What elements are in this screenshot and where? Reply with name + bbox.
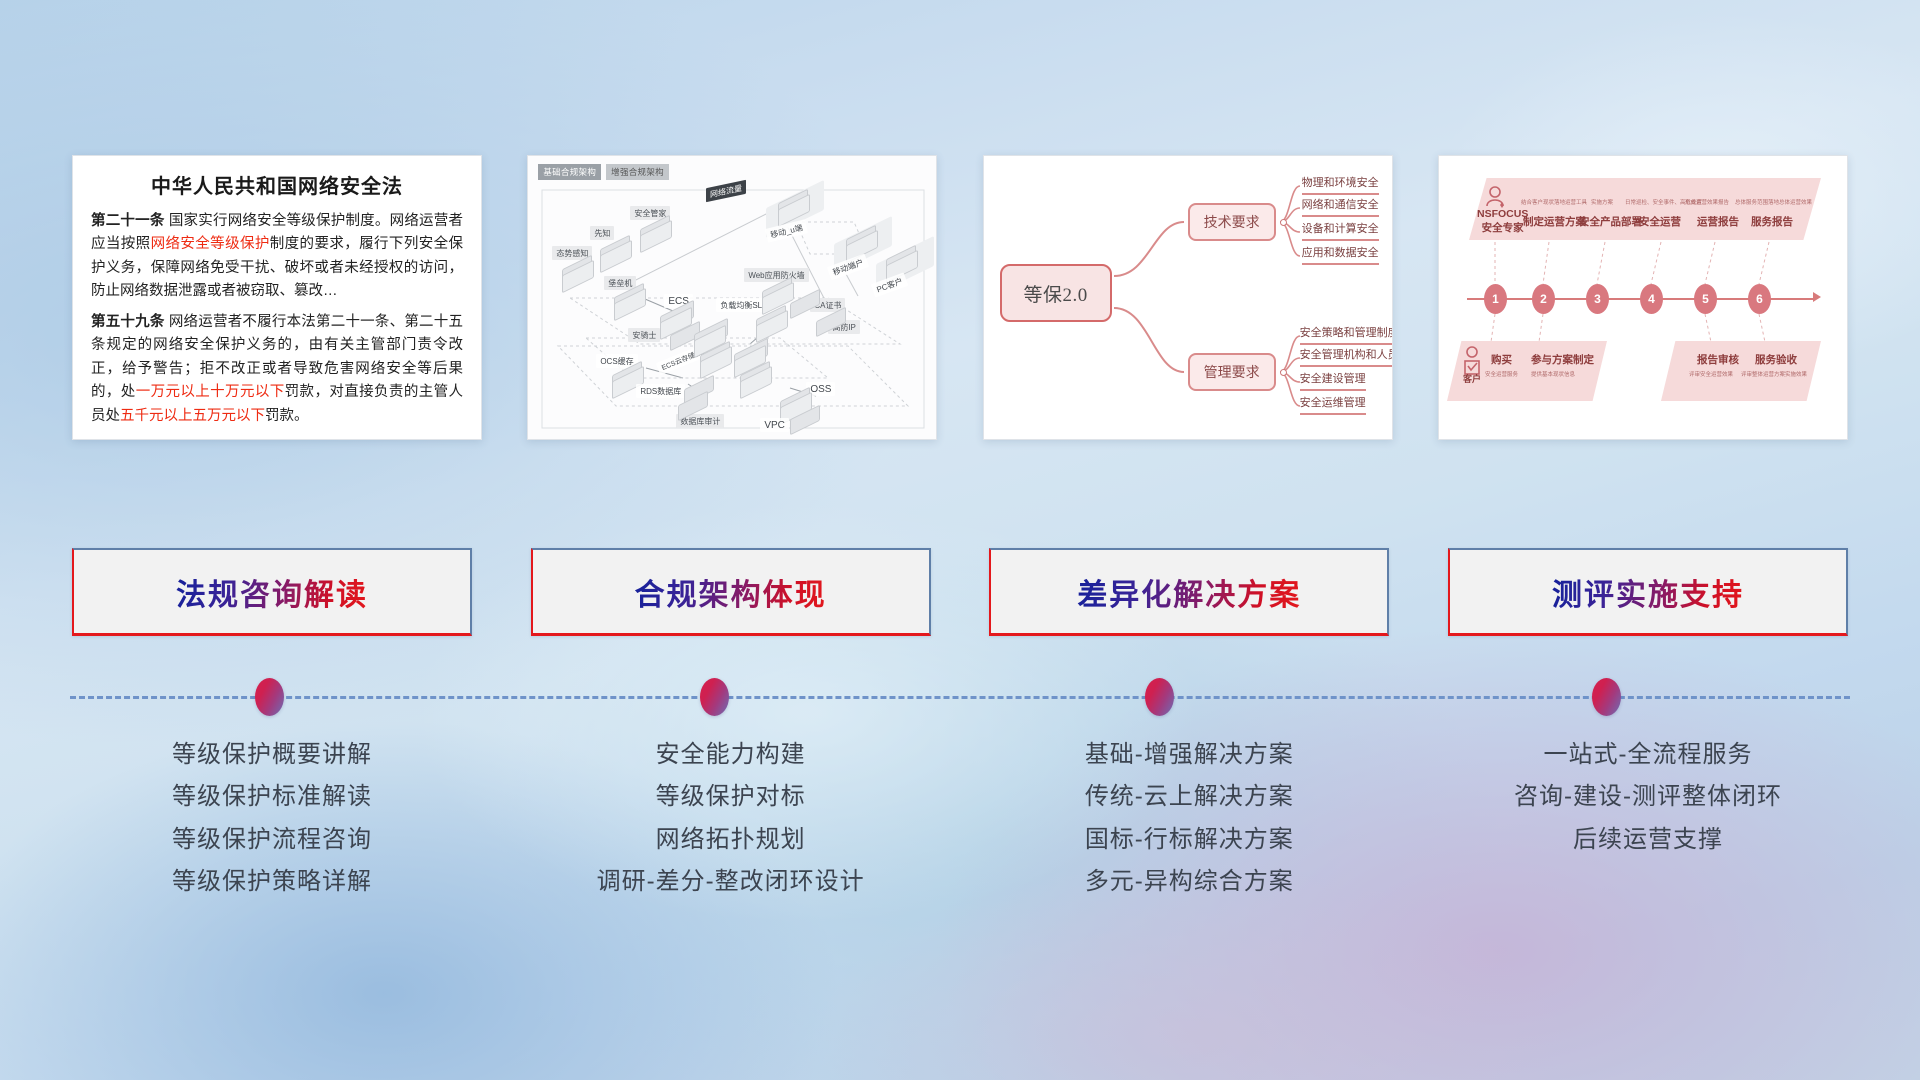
slide-stage: 中华人民共和国网络安全法 第二十一条 国家实行网络安全等级保护制度。网络运营者应… (0, 0, 1920, 1080)
roadmap-step4-title: 安全运营 (1639, 214, 1681, 229)
mindmap-leaf-network-comm: 网络和通信安全 (1302, 196, 1379, 217)
list-item: 多元-异构综合方案 (1085, 869, 1294, 895)
timeline-dot-4[interactable] (1592, 678, 1621, 716)
mindmap-leaf-policy-system: 安全策略和管理制度 (1300, 324, 1393, 345)
roadmap-node-1[interactable]: 1 (1484, 284, 1507, 314)
roadmap-customer-step3-sub: 评审安全运营效果 (1689, 370, 1733, 378)
law-card-title: 中华人民共和国网络安全法 (91, 170, 463, 199)
list-item: 后续运营支撑 (1573, 827, 1723, 853)
roadmap-axis-arrow (1813, 292, 1821, 302)
mindmap-branch-technical: 技术要求 (1188, 203, 1276, 241)
section-title-label-2: 合规架构体现 (635, 570, 827, 614)
article-59-label: 第五十九条 (91, 314, 165, 330)
service-roadmap-card: 1 2 3 4 5 6 NSFOCUS 安全专家 制定运营方案 结合客户现状落地… (1438, 155, 1848, 440)
provider-person-icon (1487, 187, 1504, 208)
node-label-anqishi: 安骑士 (628, 328, 660, 342)
mindmap-card: 等保2.0 技术要求 物理和环境安全 网络和通信安全 设备和计算安全 应用和数据… (983, 155, 1393, 440)
section-titles-row: 法规咨询解读 合规架构体现 差异化解决方案 测评实施支持 (0, 548, 1920, 640)
mindmap-leaf-org-personnel: 安全管理机构和人员 (1300, 346, 1393, 367)
node-label-waf: Web应用防火墙 (744, 268, 808, 282)
mindmap-leaf-construction-mgmt: 安全建设管理 (1300, 370, 1366, 391)
roadmap-step5-sub: 形成运营效果报告 (1685, 198, 1729, 206)
roadmap-node-5[interactable]: 5 (1694, 284, 1717, 314)
timeline-dot-2[interactable] (700, 678, 729, 716)
law-excerpt-card: 中华人民共和国网络安全法 第二十一条 国家实行网络安全等级保护制度。网络运营者应… (72, 155, 482, 440)
list-item: 国标-行标解决方案 (1085, 827, 1294, 853)
roadmap-node-6[interactable]: 6 (1748, 284, 1771, 314)
article-59-text-c: 罚款。 (265, 408, 309, 424)
timeline-dot-1[interactable] (255, 678, 284, 716)
mindmap-leaf-app-data: 应用和数据安全 (1302, 244, 1379, 265)
list-item: 调研-差分-整改闭环设计 (597, 869, 865, 895)
roadmap-customer-step4-title: 服务验收 (1755, 352, 1797, 367)
architecture-diagram-card: 基础合规架构 增强合规架构 (527, 155, 937, 440)
roadmap-step2-title: 制定运营方案 (1523, 214, 1586, 229)
section-lists-row: 等级保护概要讲解 等级保护标准解读 等级保护流程咨询 等级保护策略详解 安全能力… (0, 742, 1920, 972)
list-item: 传统-云上解决方案 (1085, 784, 1294, 810)
roadmap-customer-role: 客户 (1463, 372, 1481, 385)
list-item: 等级保护概要讲解 (172, 742, 372, 768)
list-item: 基础-增强解决方案 (1085, 742, 1294, 768)
section-title-label-4: 测评实施支持 (1552, 570, 1744, 614)
article-21-label: 第二十一条 (91, 213, 165, 229)
visual-cards-row: 中华人民共和国网络安全法 第二十一条 国家实行网络安全等级保护制度。网络运营者应… (0, 155, 1920, 445)
roadmap-step6-title: 服务报告 (1751, 214, 1793, 229)
node-label-xianzhi: 先知 (590, 226, 614, 240)
section-title-label-1: 法规咨询解读 (176, 570, 368, 614)
section-list-1: 等级保护概要讲解 等级保护标准解读 等级保护流程咨询 等级保护策略详解 (72, 742, 472, 972)
timeline-dot-3[interactable] (1145, 678, 1174, 716)
mindmap-root: 等保2.0 (1000, 264, 1112, 322)
node-label-vpc: VPC (760, 418, 789, 432)
roadmap-customer-step4-sub: 评审整体运营方案实施效果 (1741, 370, 1807, 378)
roadmap-customer-step1-sub: 安全运营服务 (1485, 370, 1518, 378)
law-article-59: 第五十九条 网络运营者不履行本法第二十一条、第二十五条规定的网络安全保护义务的，… (91, 311, 463, 428)
article-59-highlight-1: 一万元以上十万元以下 (136, 384, 285, 400)
roadmap-step3-title: 安全产品部署 (1579, 214, 1642, 229)
section-list-2: 安全能力构建 等级保护对标 网络拓扑规划 调研-差分-整改闭环设计 (531, 742, 931, 972)
roadmap-node-4[interactable]: 4 (1640, 284, 1663, 314)
article-21-highlight: 网络安全等级保护 (151, 236, 270, 252)
node-label-rds-database: RDS数据库 (636, 384, 685, 398)
customer-person-icon (1465, 347, 1479, 374)
section-title-box-3[interactable]: 差异化解决方案 (989, 548, 1389, 636)
mindmap-collapse-dot-technical[interactable] (1280, 219, 1287, 226)
roadmap-step6-sub: 总体服务范围落地总体运营效果 (1735, 198, 1812, 206)
list-item: 等级保护流程咨询 (172, 827, 372, 853)
architecture-canvas: 网络流量 移动_u端 安全管家 先知 态势感知 堡垒机 ECS 安骑士 OCS缓… (528, 156, 936, 439)
section-title-box-4[interactable]: 测评实施支持 (1448, 548, 1848, 636)
list-item: 等级保护对标 (656, 784, 806, 810)
list-item: 咨询-建设-测评整体闭环 (1514, 784, 1782, 810)
section-title-label-3: 差异化解决方案 (1077, 570, 1301, 614)
list-item: 一站式-全流程服务 (1543, 742, 1752, 768)
roadmap-node-3[interactable]: 3 (1586, 284, 1609, 314)
mindmap-leaf-ops-mgmt: 安全运维管理 (1300, 394, 1366, 415)
law-article-21: 第二十一条 国家实行网络安全等级保护制度。网络运营者应当按照网络安全等级保护制度… (91, 210, 463, 304)
section-title-box-1[interactable]: 法规咨询解读 (72, 548, 472, 636)
roadmap-customer-step3-title: 报告审核 (1697, 352, 1739, 367)
mindmap-leaf-device-compute: 设备和计算安全 (1302, 220, 1379, 241)
mindmap-collapse-dot-management[interactable] (1280, 369, 1287, 376)
section-list-4: 一站式-全流程服务 咨询-建设-测评整体闭环 后续运营支撑 (1448, 742, 1848, 972)
roadmap-customer-step2-title: 参与方案制定 (1531, 352, 1594, 367)
list-item: 等级保护策略详解 (172, 869, 372, 895)
section-title-box-2[interactable]: 合规架构体现 (531, 548, 931, 636)
mindmap-branch-management: 管理要求 (1188, 353, 1276, 391)
timeline-dashed-line (70, 696, 1850, 699)
roadmap-provider-role: NSFOCUS 安全专家 (1477, 208, 1528, 235)
roadmap-node-2[interactable]: 2 (1532, 284, 1555, 314)
roadmap-step3-sub: 实施方案 (1591, 198, 1613, 206)
list-item: 网络拓扑规划 (656, 827, 806, 853)
roadmap-step5-title: 运营报告 (1697, 214, 1739, 229)
list-item: 等级保护标准解读 (172, 784, 372, 810)
article-59-highlight-2: 五千元以上五万元以下 (120, 408, 265, 424)
mindmap-leaf-physical-env: 物理和环境安全 (1302, 174, 1379, 195)
list-item: 安全能力构建 (656, 742, 806, 768)
section-list-3: 基础-增强解决方案 传统-云上解决方案 国标-行标解决方案 多元-异构综合方案 (989, 742, 1389, 972)
roadmap-customer-step2-sub: 提供基本现状信息 (1531, 370, 1575, 378)
roadmap-customer-step1-title: 购买 (1491, 352, 1512, 367)
roadmap-step2-sub: 结合客户现状落地运营工具 (1521, 198, 1587, 206)
